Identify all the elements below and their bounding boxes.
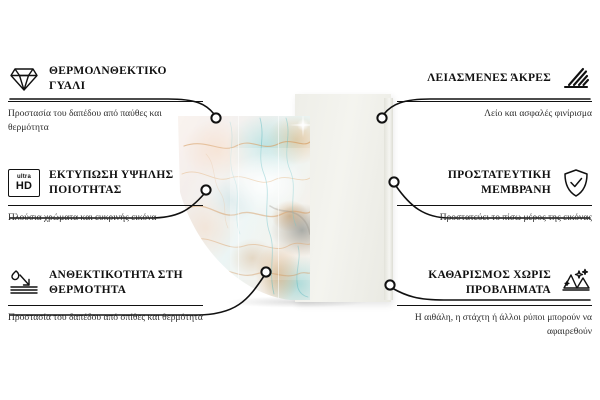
feature-description: Πλούσια χρώματα και ευκρινής εικόνα [8,212,203,226]
feature-title: ΚΑΘΑΡΙΣΜΟΣ ΧΩΡΙΣ ΠΡΟΒΛΗΜΑΤΑ [397,268,551,298]
product-image [170,88,430,323]
feature-divider [397,101,592,102]
feature-header: ΑΝΘΕΚΤΙΚΟΤΗΤΑ ΣΤΗ ΘΕΡΜΟΤΗΤΑ [8,266,203,300]
feature-header: ΠΡΟΣΤΑΤΕΥΤΙΚΗ ΜΕΜΒΡΑΝΗ [397,166,592,200]
pane-seam-right [278,116,279,300]
feature-divider [8,205,203,206]
feature-title: ΠΡΟΣΤΑΤΕΥΤΙΚΗ ΜΕΜΒΡΑΝΗ [397,168,551,198]
feature-title: ΛΕΙΑΣΜΕΝΕΣ ΆΚΡΕΣ [427,71,551,86]
feature-header: ΛΕΙΑΣΜΕΝΕΣ ΆΚΡΕΣ [397,62,592,96]
feature-smoothed-edges: ΛΕΙΑΣΜΕΝΕΣ ΆΚΡΕΣ Λείο και ασφαλές φινίρι… [397,62,592,122]
feature-title: ΑΝΘΕΚΤΙΚΟΤΗΤΑ ΣΤΗ ΘΕΡΜΟΤΗΤΑ [49,268,203,298]
feature-easy-cleaning: ΚΑΘΑΡΙΣΜΟΣ ΧΩΡΙΣ ΠΡΟΒΛΗΜΑΤΑ Η αιθάλη, η … [397,266,592,340]
feature-divider [8,101,203,102]
shield-check-icon [560,167,592,199]
diamond-icon [8,63,40,95]
ultra-hd-icon: ultra HD [8,167,40,199]
feature-divider [397,205,592,206]
feature-description: Προστατεύει το πίσω μέρος της εικόνας [397,212,592,226]
feature-header: ΚΑΘΑΡΙΣΜΟΣ ΧΩΡΙΣ ΠΡΟΒΛΗΜΑΤΑ [397,266,592,300]
back-panel-edge [384,98,393,300]
feature-divider [397,305,592,306]
feature-high-quality-print: ultra HD ΕΚΤΥΠΩΣΗ ΥΨΗΛΗΣ ΠΟΙΟΤΗΤΑΣ Πλούσ… [8,166,203,226]
feature-heat-durability: ΑΝΘΕΚΤΙΚΟΤΗΤΑ ΣΤΗ ΘΕΡΜΟΤΗΤΑ Προστασία το… [8,266,203,326]
infographic-page: ΘΕΡΜΟΛΝΘΕΚΤΙΚΟ ΓΥΑΛΙ Προστασία του δαπέδ… [0,0,600,400]
pane-seam-left [238,116,239,300]
smoothed-edges-icon [560,63,592,95]
easy-clean-sparkle-icon [560,267,592,299]
feature-protective-membrane: ΠΡΟΣΤΑΤΕΥΤΙΚΗ ΜΕΜΒΡΑΝΗ Προστατεύει το πί… [397,166,592,226]
feature-description: Λείο και ασφαλές φινίρισμα [397,108,592,122]
feature-header: ultra HD ΕΚΤΥΠΩΣΗ ΥΨΗΛΗΣ ΠΟΙΟΤΗΤΑΣ [8,166,203,200]
feature-description: Η αιθάλη, η στάχτη ή άλλοι ρύποι μπορούν… [397,312,592,340]
feature-title: ΘΕΡΜΟΛΝΘΕΚΤΙΚΟ ΓΥΑΛΙ [49,64,203,94]
feature-title: ΕΚΤΥΠΩΣΗ ΥΨΗΛΗΣ ΠΟΙΟΤΗΤΑΣ [49,168,203,198]
feature-divider [8,305,203,306]
ultra-hd-icon-main-label: HD [16,181,32,192]
feature-description: Προστασία του δαπέδου από σπίθες και θερ… [8,312,203,326]
feature-header: ΘΕΡΜΟΛΝΘΕΚΤΙΚΟ ΓΥΑΛΙ [8,62,203,96]
heat-resistance-icon [8,267,40,299]
feature-description: Προστασία του δαπέδου από παύθες και θερ… [8,108,203,136]
feature-heat-resistant-glass: ΘΕΡΜΟΛΝΘΕΚΤΙΚΟ ΓΥΑΛΙ Προστασία του δαπέδ… [8,62,203,136]
